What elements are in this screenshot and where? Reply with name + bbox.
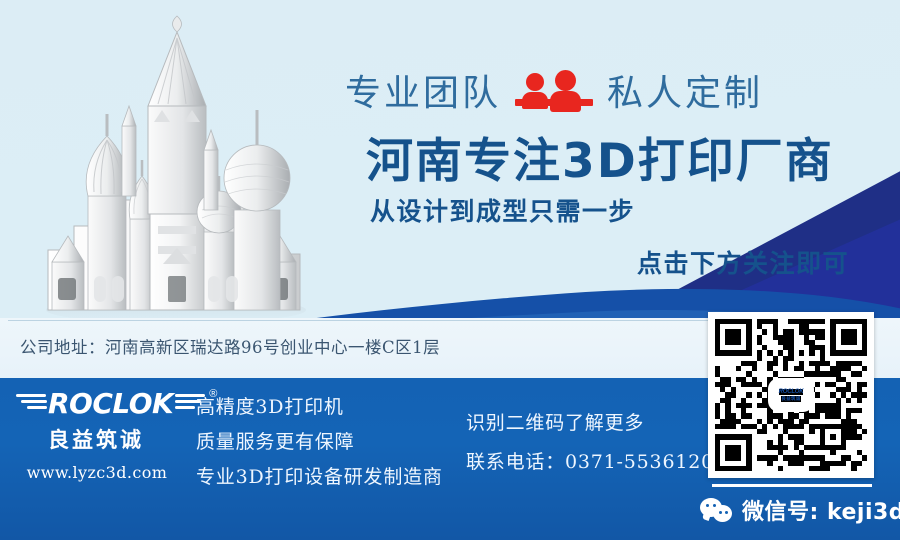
qr-center-logo: ROCLOK 良益筑诚 (768, 378, 814, 412)
phone-number: 联系电话：0371-55361200 (466, 447, 727, 474)
wechat-info: 微信号: keji3d (700, 494, 900, 526)
feature-item: 高精度3D打印机 (196, 392, 443, 419)
wing-left-icon (16, 392, 48, 414)
wechat-icon (700, 496, 734, 524)
website-url[interactable]: www.lyzc3d.com (16, 463, 178, 482)
brand-name: ROCLOK (48, 387, 173, 420)
tagline-left: 专业团队 (345, 64, 501, 116)
qr-badge-brand: ROCLOK (779, 389, 804, 395)
wechat-divider (712, 484, 872, 487)
address-divider (8, 320, 708, 321)
company-logo: ROCLOK ® 良益筑诚 www.lyzc3d.com (16, 386, 196, 486)
wechat-id-label: 微信号: keji3d (742, 494, 900, 526)
qr-code-matrix: ROCLOK 良益筑诚 (715, 319, 867, 471)
product-photo-3d-printed-cathedral (8, 14, 338, 326)
main-headline: 河南专注3D打印厂商 (366, 122, 834, 191)
sub-headline: 从设计到成型只需一步 (370, 192, 635, 228)
contact-block: 识别二维码了解更多 联系电话：0371-55361200 (466, 408, 727, 474)
qr-badge-chinese: 良益筑诚 (781, 396, 800, 402)
feature-item: 专业3D打印设备研发制造商 (196, 462, 443, 489)
two-people-icon (515, 68, 593, 112)
qr-hint-text: 识别二维码了解更多 (466, 408, 727, 435)
qr-code[interactable]: ROCLOK 良益筑诚 (708, 312, 874, 478)
advertisement-banner: 专业团队 私人定制 河南专注3D打印厂商 从设计到成型只需一步 点击下方关注即可… (0, 0, 900, 540)
company-address: 公司地址：河南高新区瑞达路96号创业中心一楼C区1层 (20, 334, 440, 358)
tagline-right: 私人定制 (607, 64, 763, 116)
tagline-row: 专业团队 私人定制 (345, 62, 845, 118)
feature-item: 质量服务更有保障 (196, 427, 443, 454)
logo-wordmark: ROCLOK ® (16, 386, 196, 420)
call-to-action-text: 点击下方关注即可 (637, 244, 849, 280)
brand-name-chinese: 良益筑诚 (16, 424, 176, 454)
feature-list: 高精度3D打印机 质量服务更有保障 专业3D打印设备研发制造商 (196, 392, 443, 489)
